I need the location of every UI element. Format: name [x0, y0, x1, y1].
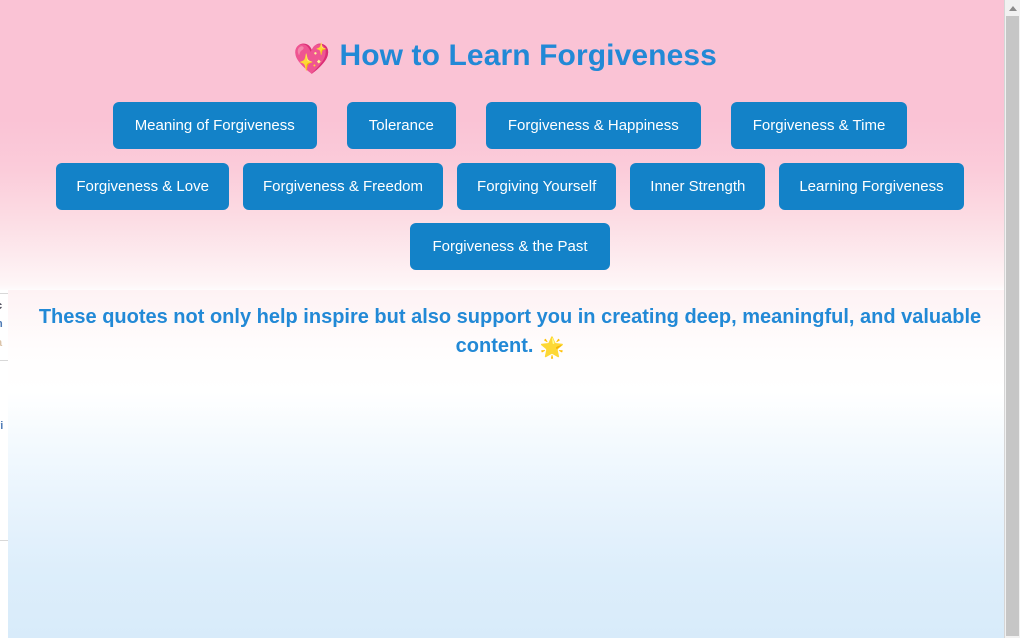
topic-button-forgiveness-and-time[interactable]: Forgiveness & Time	[731, 102, 908, 149]
topic-button-learning-forgiveness[interactable]: Learning Forgiveness	[779, 163, 963, 210]
sparkling-heart-icon: 💖	[293, 38, 330, 82]
topic-button-row-3: Forgiveness & the Past	[0, 223, 1020, 270]
page-content: 💖How to Learn Forgiveness Meaning of For…	[0, 0, 1020, 638]
topic-button-forgiving-yourself[interactable]: Forgiving Yourself	[457, 163, 616, 210]
topic-button-row-2: Forgiveness & Love Forgiveness & Freedom…	[0, 163, 1020, 210]
vertical-scrollbar[interactable]	[1004, 0, 1020, 638]
scrollbar-thumb[interactable]	[1006, 16, 1019, 636]
page-title: 💖How to Learn Forgiveness	[0, 34, 1010, 82]
topic-button-meaning-of-forgiveness[interactable]: Meaning of Forgiveness	[113, 102, 317, 149]
topic-button-row-1: Meaning of Forgiveness Tolerance Forgive…	[0, 102, 1020, 149]
page-subtitle-text: These quotes not only help inspire but a…	[39, 306, 981, 357]
topic-button-forgiveness-and-happiness[interactable]: Forgiveness & Happiness	[486, 102, 701, 149]
topic-button-forgiveness-and-the-past[interactable]: Forgiveness & the Past	[410, 223, 609, 270]
topic-button-inner-strength[interactable]: Inner Strength	[630, 163, 765, 210]
topic-button-forgiveness-and-love[interactable]: Forgiveness & Love	[56, 163, 229, 210]
page-subtitle: These quotes not only help inspire but a…	[16, 303, 1004, 363]
topic-button-forgiveness-and-freedom[interactable]: Forgiveness & Freedom	[243, 163, 443, 210]
page-title-text: How to Learn Forgiveness	[339, 39, 716, 72]
chevron-up-icon	[1009, 6, 1017, 11]
scrollbar-up-button[interactable]	[1005, 0, 1020, 16]
browser-viewport: c n a ri 💖How to Learn Forgiveness Meani…	[0, 0, 1020, 638]
topic-button-tolerance[interactable]: Tolerance	[347, 102, 456, 149]
glowing-star-icon: 🌟	[539, 334, 564, 363]
